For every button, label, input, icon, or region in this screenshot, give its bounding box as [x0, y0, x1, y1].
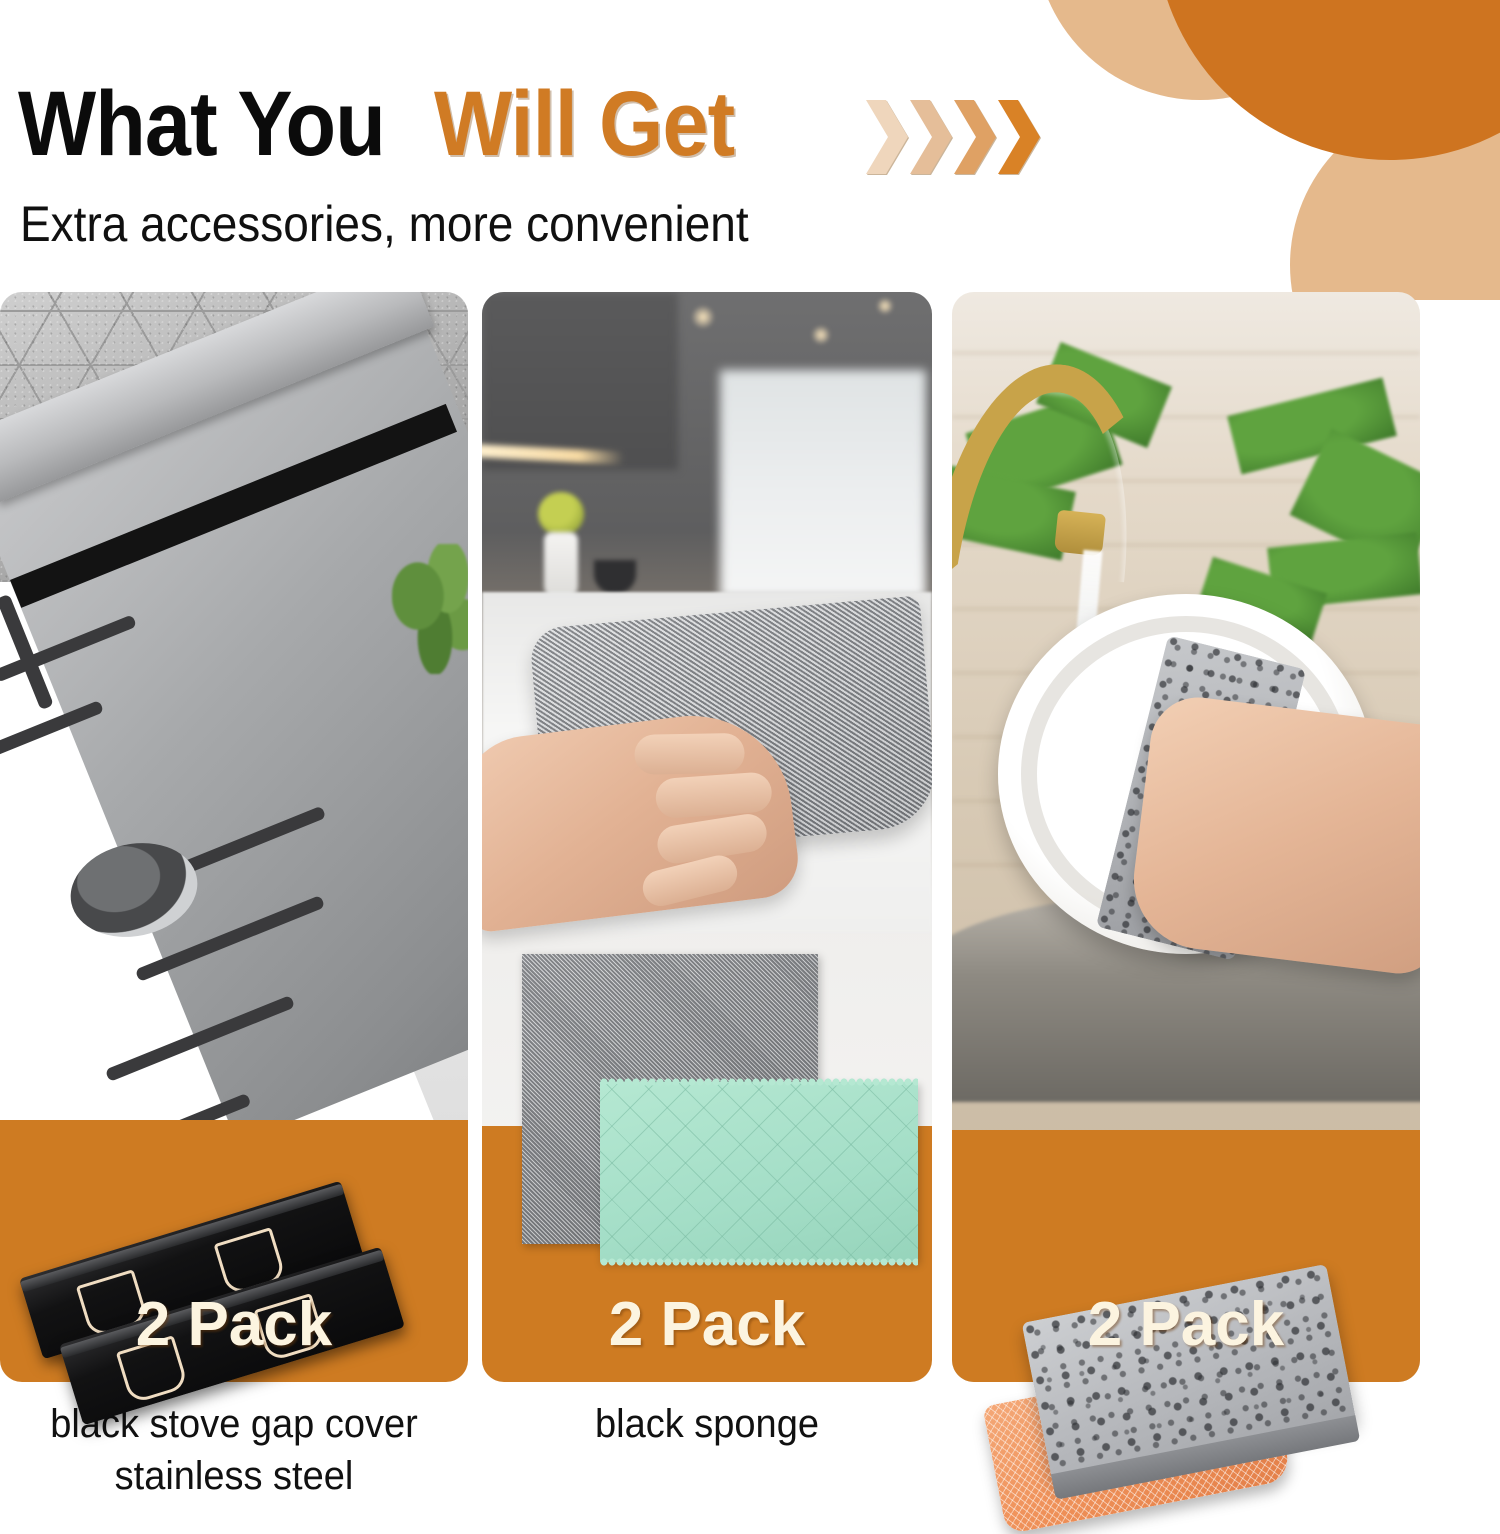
page-title-orange-part: Will Get: [434, 78, 734, 170]
chevron-right-icon-3: [954, 100, 996, 174]
page-title: What You Will Get: [18, 78, 767, 168]
chevron-right-icon-1: [866, 100, 908, 174]
chevron-right-icon-4: [998, 100, 1040, 174]
product-panel-stove-gap-cover: 2 Pack: [0, 292, 468, 1382]
window-light: [720, 370, 926, 598]
ceiling-spotlight: [812, 326, 830, 344]
ceiling-spotlight: [877, 298, 893, 314]
decorative-circle-orange: [1155, 0, 1500, 160]
page-title-black-part: What You: [18, 78, 385, 170]
ceiling-spotlight: [692, 306, 714, 328]
product-panel-cleaning-cloth: 2 Pack: [952, 292, 1420, 1382]
badge-label-2: 2 Pack: [482, 1290, 932, 1360]
chevron-arrow-group: [866, 100, 1040, 174]
hand-wiping: [482, 705, 802, 934]
badge-label-1: 2 Pack: [0, 1290, 468, 1360]
panel-caption-black-sponge: black sponge: [493, 1398, 921, 1450]
panel-caption-stove-gap-cover: black stove gap cover stainless steel: [12, 1398, 457, 1502]
white-vase: [544, 532, 578, 600]
hand-washing: [1126, 692, 1420, 978]
product-panel-row: 2 Pack: [0, 292, 1500, 1382]
product-panel-black-sponge: 2 Pack: [482, 292, 932, 1382]
caption-line: stainless steel: [12, 1450, 457, 1502]
upper-cabinet: [482, 292, 678, 470]
chevron-right-icon-2: [910, 100, 952, 174]
plant-decoration: [392, 544, 468, 674]
caption-line: black sponge: [493, 1398, 921, 1450]
badge-label-3: 2 Pack: [952, 1290, 1420, 1360]
faucet-spout: [1054, 510, 1106, 557]
decorative-circle-light-lower: [1290, 100, 1500, 300]
potted-plant: [538, 492, 584, 536]
mint-cleaning-cloth-product: [600, 1082, 918, 1262]
decorative-circle-light-upper: [1035, 0, 1365, 100]
page-subtitle: Extra accessories, more convenient: [20, 196, 749, 252]
